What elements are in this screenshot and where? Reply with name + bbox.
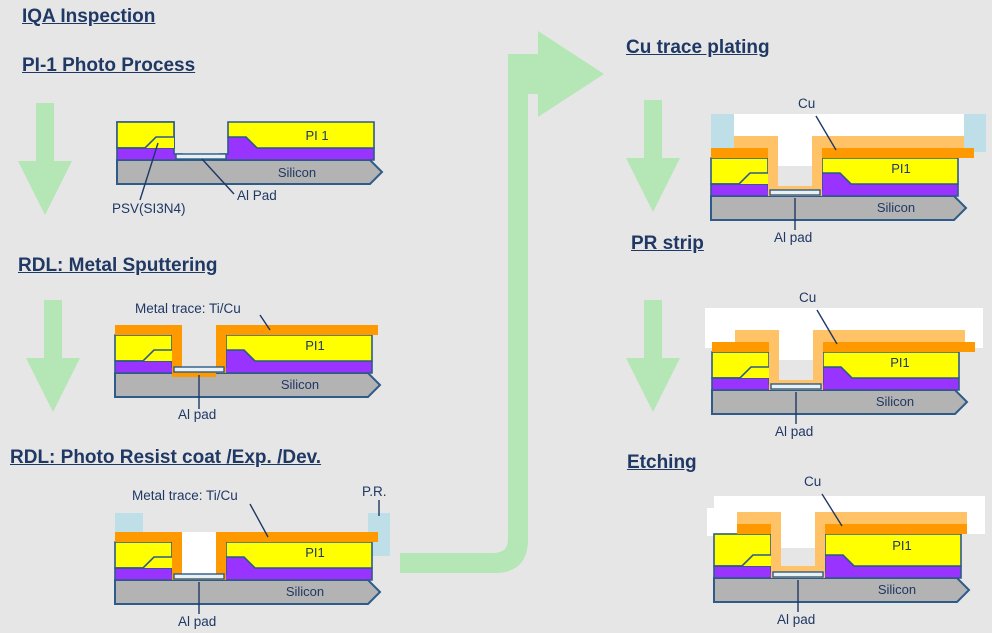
flow-connector-arrow (392, 28, 622, 588)
layer-photoresist-left (711, 114, 734, 152)
cross-section-etching: PI1 Silicon Cu Al pad (702, 490, 992, 625)
step-title-etching: Etching (627, 452, 697, 474)
page-title: IQA Inspection (22, 6, 155, 28)
step-title-rdl-metal-sputtering: RDL: Metal Sputtering (18, 255, 218, 277)
layer-photoresist-right (964, 114, 986, 152)
callout-label-pr: P.R. (362, 484, 387, 499)
callout-label-al-pad: Al pad (774, 230, 812, 245)
callout-label-cu: Cu (798, 96, 815, 111)
callout-label-al-pad: Al pad (178, 614, 216, 629)
callout-label-al-pad: Al pad (775, 424, 813, 439)
cross-section-rdl-photo-resist-coat: PI1 Silicon Metal trace: Ti/Cu P.R. Al p… (110, 488, 410, 628)
layer-label-pi: PI1 (305, 338, 325, 353)
process-flow-diagram: IQA Inspection PI-1 Photo Process RDL: M… (0, 0, 992, 633)
step-title-cu-trace-plating: Cu trace plating (626, 37, 770, 59)
layer-label-silicon: Silicon (286, 584, 324, 599)
callout-label-cu: Cu (804, 474, 821, 489)
callout-label-al-pad: Al pad (777, 612, 815, 627)
layer-label-silicon: Silicon (281, 377, 319, 392)
layer-label-pi: PI1 (892, 538, 912, 553)
callout-label-al-pad: Al Pad (237, 188, 277, 203)
layer-label-pi: PI1 (305, 545, 325, 560)
layer-label-pi: PI1 (890, 355, 910, 370)
layer-label-silicon: Silicon (878, 582, 916, 597)
down-arrow-to-metal-sputtering (14, 103, 76, 221)
cross-section-pr-strip: PI1 Silicon Cu Al pad (700, 302, 992, 437)
cross-section-rdl-metal-sputtering: PI1 Silicon Metal trace: Ti/Cu Al pad (110, 305, 400, 420)
layer-label-silicon: Silicon (876, 394, 914, 409)
callout-label-metal-trace: Metal trace: Ti/Cu (132, 488, 238, 503)
layer-label-pi: PI1 (891, 161, 911, 176)
layer-label-pi: PI 1 (305, 128, 328, 143)
layer-label-silicon: Silicon (278, 165, 316, 180)
callout-label-metal-trace: Metal trace: Ti/Cu (135, 301, 241, 316)
callout-label-al-pad: Al pad (178, 407, 216, 422)
step-title-pi1-photo-process: PI-1 Photo Process (22, 55, 195, 77)
down-arrow-to-pr-strip (622, 100, 684, 218)
step-title-pr-strip: PR strip (631, 233, 704, 255)
callout-label-cu: Cu (799, 290, 816, 305)
down-arrow-to-etching (622, 300, 684, 418)
step-title-rdl-photo-resist-coat: RDL: Photo Resist coat /Exp. /Dev. (10, 447, 321, 469)
layer-label-silicon: Silicon (877, 200, 915, 215)
callout-label-psv: PSV(SI3N4) (112, 201, 186, 216)
down-arrow-to-photo-resist (22, 300, 84, 418)
cross-section-cu-trace-plating: PI1 Silicon Cu Al pad (706, 108, 992, 243)
cross-section-pi1-photo-process: PI 1 Silicon PSV(SI3N4) Al Pad (112, 112, 392, 217)
